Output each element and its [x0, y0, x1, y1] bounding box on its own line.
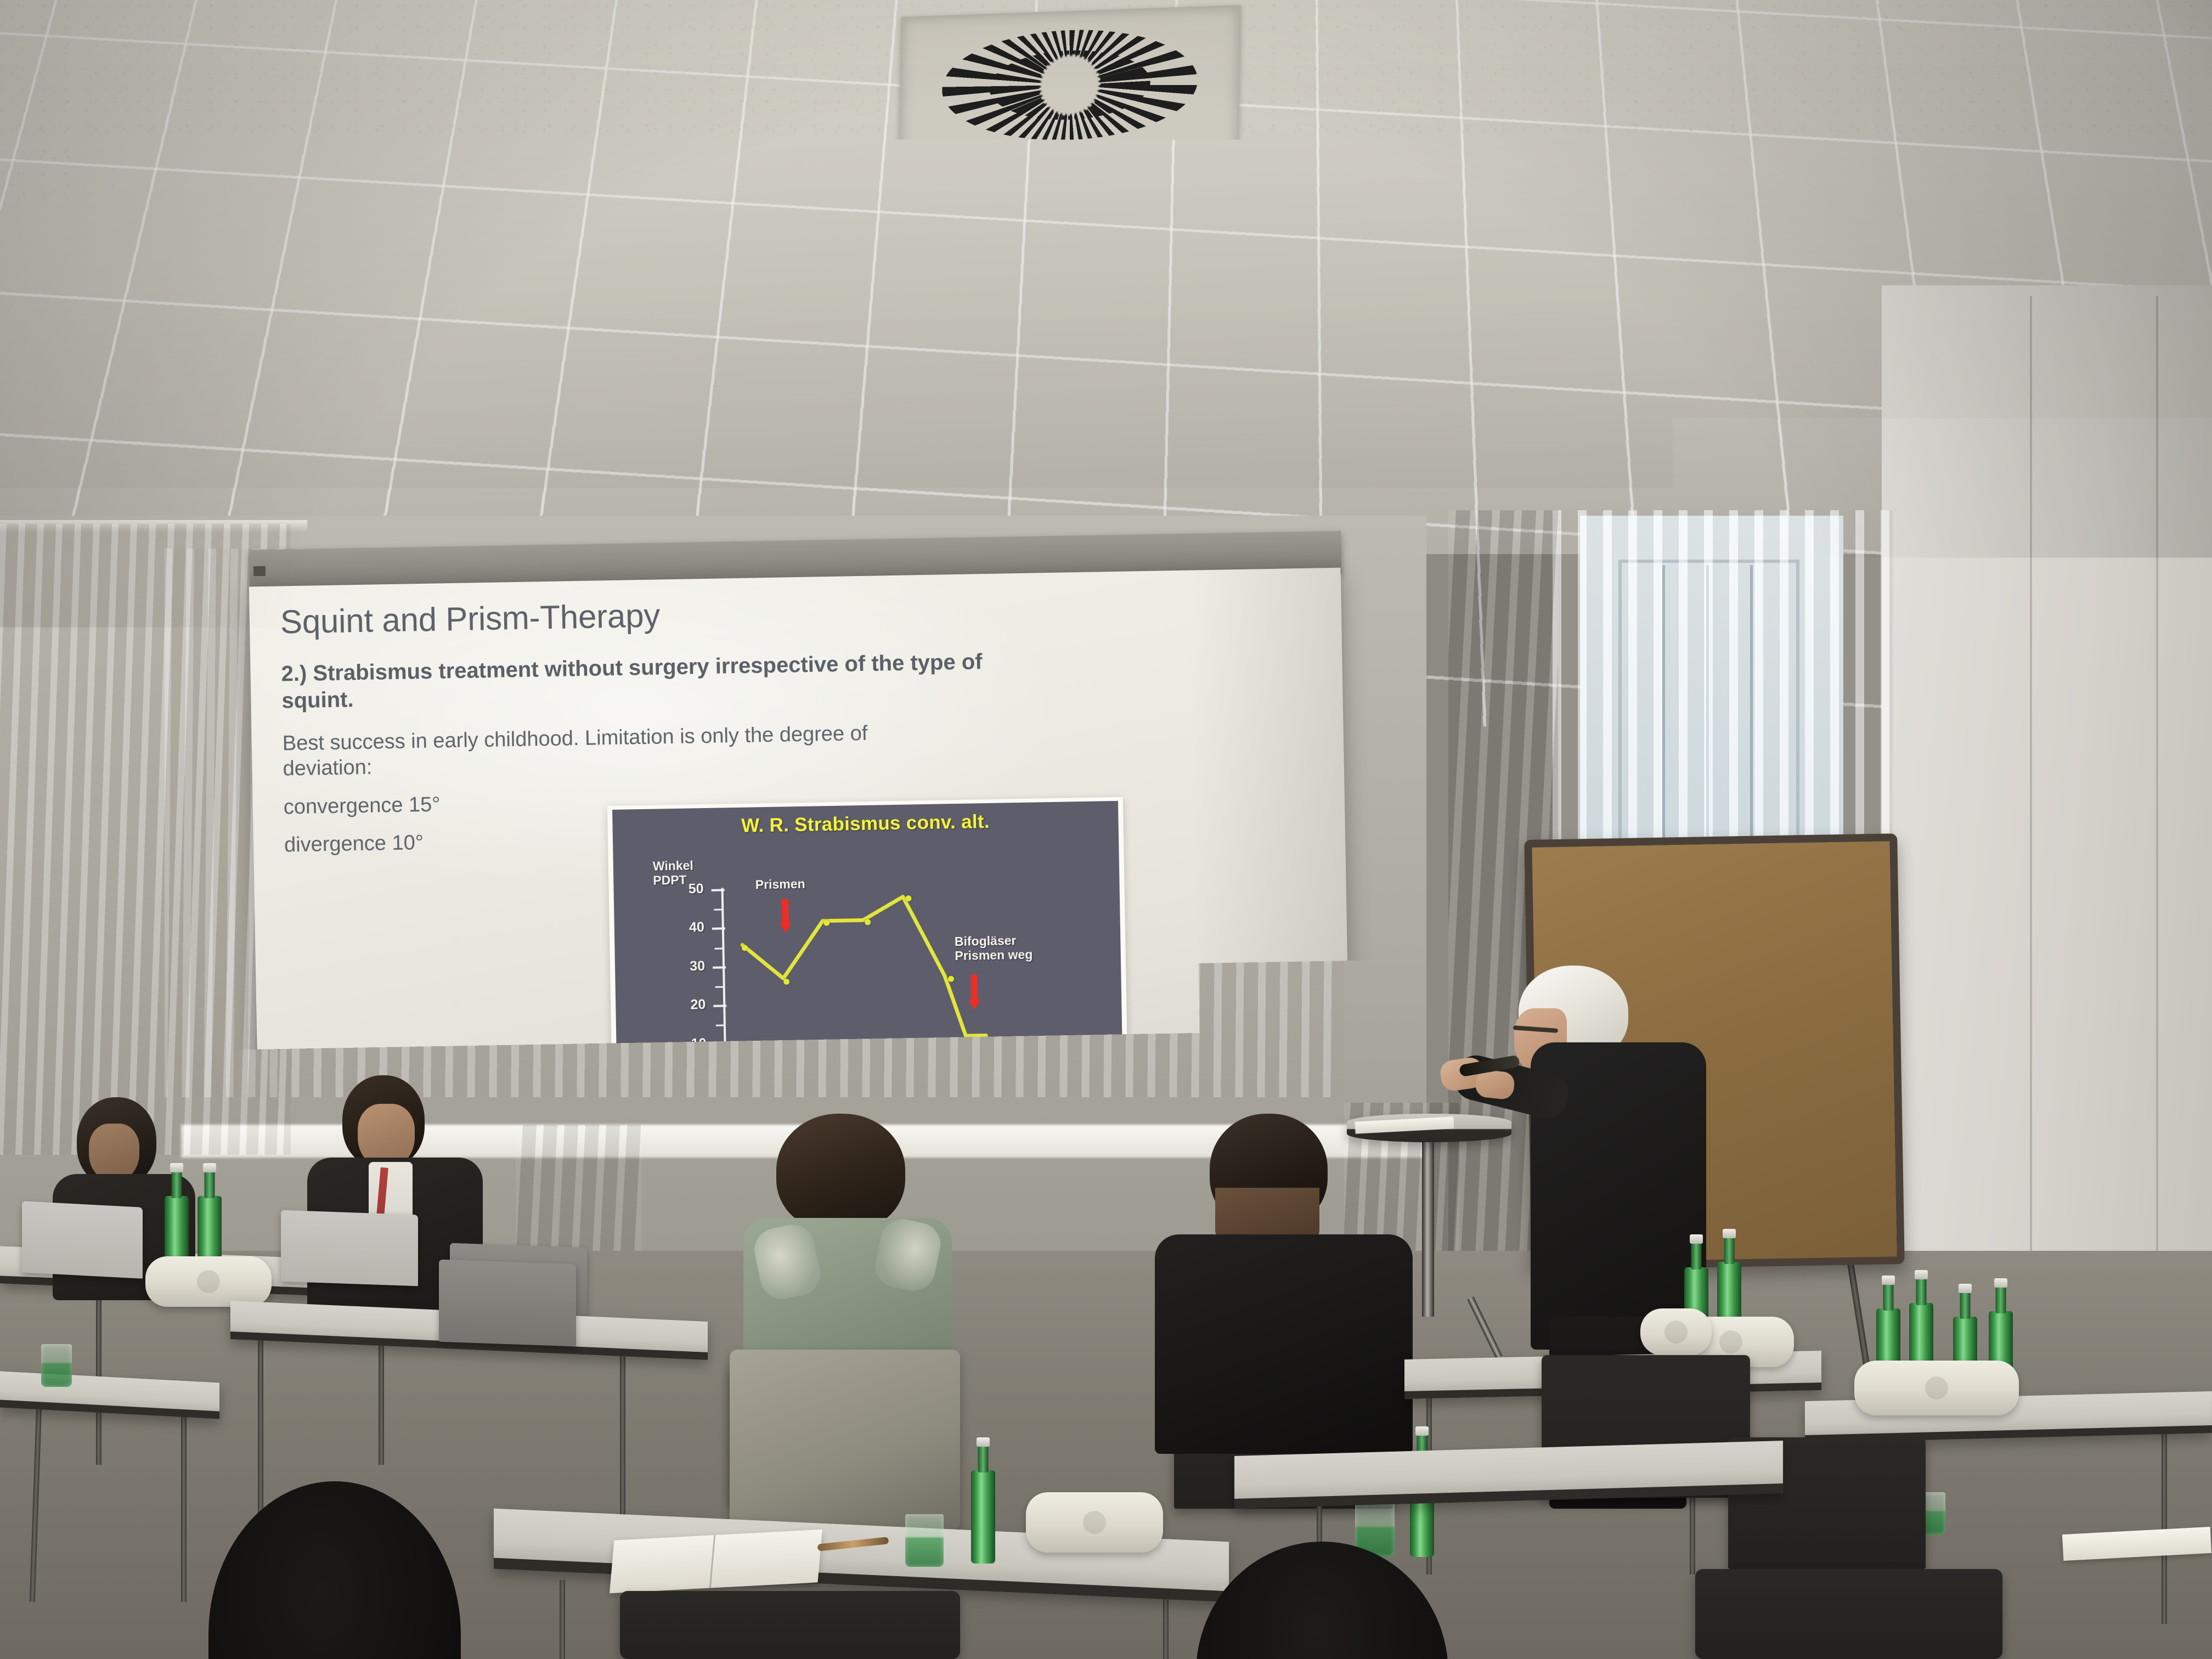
- chart-annotation-bifoglaeser: Bifogläser Prismen weg: [955, 933, 1033, 963]
- chart-x-tick-3: [871, 1081, 872, 1090]
- table-leg-f1: [560, 1580, 565, 1659]
- chart-plot-area: W. R. Strabismus conv. alt. Winkel PDPT …: [612, 801, 1124, 1109]
- chair-foreground[interactable]: [620, 1591, 960, 1659]
- chart-annotation-bifoglaeser-line2: Prismen weg: [955, 947, 1032, 963]
- right-wall-seam-1: [2030, 296, 2032, 1339]
- chart-annotation-arrow-1: [782, 899, 789, 924]
- panel-light-louvre-1: [1537, 330, 1689, 394]
- projection-screen: Squint and Prism-Therapy 2.) Strabismus …: [249, 568, 1350, 1109]
- cocktail-table-stem: [1422, 1136, 1434, 1317]
- smoke-detector-icon: [241, 313, 287, 347]
- chart-y-tick-1: [714, 1043, 727, 1046]
- panel-light-1: [1527, 325, 1699, 400]
- attendee-right-jacket: [1155, 1234, 1413, 1454]
- right-wall-panel: [1882, 285, 2212, 1328]
- laptop-left-4: [439, 1260, 576, 1347]
- chart-y-minor-tick: [714, 947, 724, 949]
- air-diffuser-icon: [899, 5, 1241, 165]
- cushion-right-2: [1640, 1308, 1712, 1356]
- projection-screen-case-tab: [253, 566, 266, 576]
- chart-x-tick-0: [747, 1083, 749, 1092]
- chart-annotation-prismen: Prismen: [755, 877, 805, 892]
- chart-y-tick-3: [713, 966, 726, 968]
- chart-y-tick-0: [715, 1082, 728, 1084]
- downlight-icon-6: [1723, 167, 1753, 188]
- chart-y-tick-label-5: 50: [670, 881, 703, 898]
- chart-y-tick-2: [713, 1005, 726, 1007]
- slide-bullet-2: Best success in early childhood. Limitat…: [282, 719, 935, 781]
- chart-line-series: [612, 801, 1124, 1109]
- attendee-left-woman-face: [89, 1124, 139, 1182]
- conference-room-photo: SONY Squint and Prism-Therapy 2.) Strabi…: [0, 0, 2212, 1659]
- embedded-chart-figure: W. R. Strabismus conv. alt. Winkel PDPT …: [607, 797, 1128, 1109]
- chart-x-tick-5: [953, 1079, 955, 1088]
- chart-y-minor-tick: [715, 986, 725, 988]
- slide-bullet-1: 2.) Strabismus treatment without surgery…: [281, 648, 1001, 714]
- chart-series-plot: 010203040501,522,533,544,55: [612, 801, 1124, 1109]
- chair-foreground-right[interactable]: [1695, 1569, 2002, 1659]
- laptop-left-1: [22, 1201, 143, 1279]
- chart-y-minor-tick: [716, 1063, 726, 1065]
- chart-y-tick-4: [712, 928, 725, 930]
- cushion-fg-1: [1026, 1492, 1163, 1553]
- chart-x-tick-2: [830, 1081, 831, 1091]
- chart-y-minor-tick: [716, 1025, 726, 1026]
- downlight-icon-3: [1385, 395, 1415, 416]
- table-leg-c2: [181, 1404, 187, 1602]
- chart-series-polyline: [742, 895, 986, 1040]
- chart-y-minor-tick: [714, 909, 724, 911]
- slide-content: Squint and Prism-Therapy 2.) Strabismus …: [280, 588, 1327, 1097]
- downlight-icon-1: [1114, 176, 1150, 200]
- chart-annotation-arrow-2: [970, 974, 978, 1001]
- slide-title: Squint and Prism-Therapy: [280, 588, 1319, 639]
- chart-y-tick-label-3: 30: [672, 958, 705, 975]
- glass-far-left: [41, 1344, 72, 1387]
- chart-y-tick-label-1: 10: [673, 1036, 706, 1052]
- chart-y-tick-label-0: 0: [674, 1074, 707, 1091]
- open-notebook: [610, 1530, 822, 1593]
- presenter-hand-right: [1475, 1069, 1516, 1100]
- air-diffuser-icon-2: [1008, 336, 1251, 449]
- chair-coat-center: [730, 1350, 960, 1531]
- chart-x-tick-1: [788, 1082, 790, 1091]
- glass-fg-1: [905, 1514, 944, 1567]
- cushion-left-1: [145, 1256, 272, 1307]
- table-leg-e2: [2162, 1426, 2167, 1624]
- projector-vent: [460, 203, 552, 313]
- table-leg-a1: [96, 1278, 101, 1465]
- bottle-fg-1: [971, 1470, 995, 1564]
- chart-x-tick-6: [994, 1079, 996, 1088]
- chart-y-tick-label-2: 20: [673, 997, 706, 1013]
- left-curtain: [0, 524, 291, 1155]
- chart-y-tick-5: [712, 889, 725, 891]
- laptop-left-2: [281, 1210, 418, 1286]
- right-wall-seam-2: [2156, 296, 2158, 1339]
- chart-y-tick-label-4: 40: [672, 919, 704, 936]
- chart-annotation-bifoglaeser-line1: Bifogläser: [955, 933, 1032, 949]
- cushion-right-3: [1854, 1361, 2019, 1415]
- attendee-center-hair: [776, 1114, 905, 1232]
- chart-x-tick-7: [1035, 1078, 1037, 1087]
- downlight-icon-4: [1795, 306, 1824, 326]
- downlight-icon-2: [1136, 417, 1167, 439]
- chart-x-tick-4: [912, 1080, 913, 1089]
